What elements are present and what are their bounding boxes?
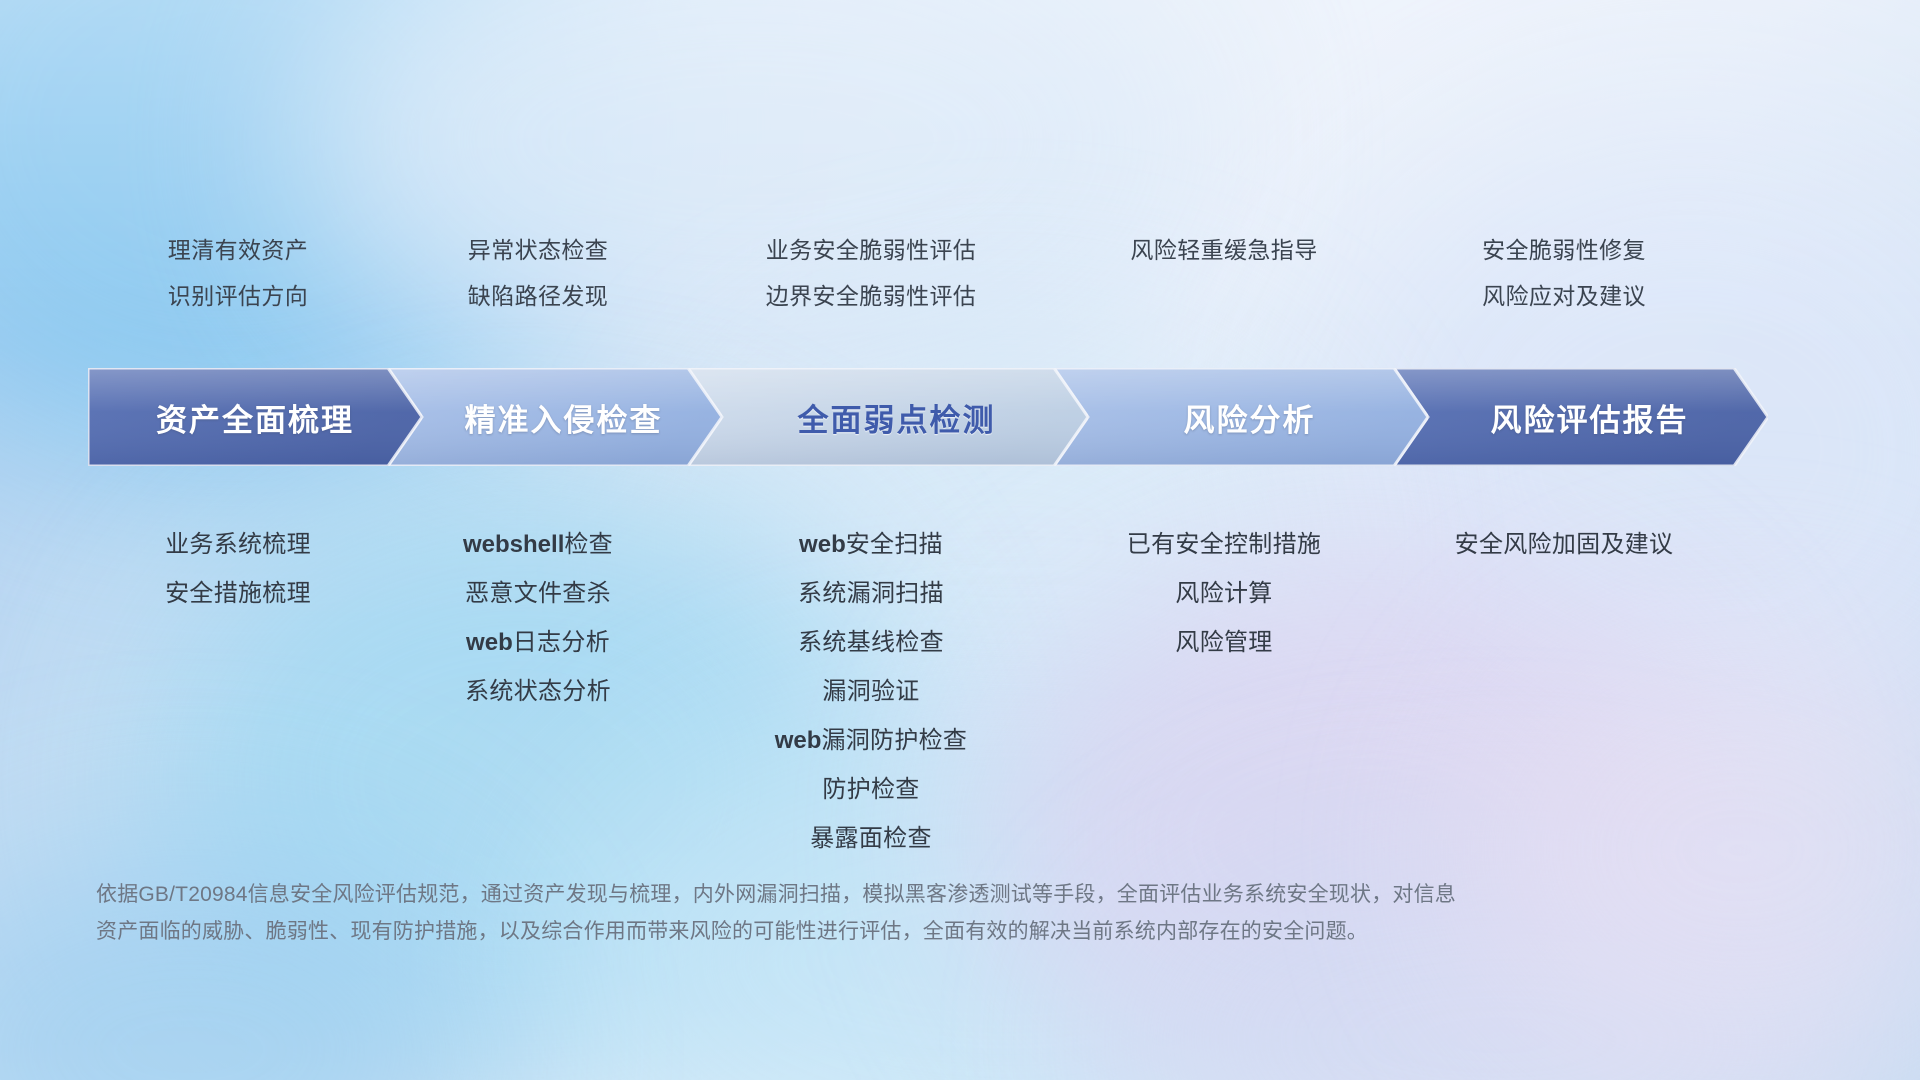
detail-item-prefix: webshell — [463, 531, 564, 558]
process-step-label: 精准入侵检查 — [465, 395, 663, 440]
detail-item: 系统基线检查 — [798, 618, 944, 667]
detail-item: 业务系统梳理 — [165, 520, 311, 569]
footer-description: 依据GB/T20984信息安全风险评估规范，通过资产发现与梳理，内外网漏洞扫描，… — [96, 876, 1596, 950]
top-notes-column-3: 业务安全脆弱性评估边界安全脆弱性评估 — [688, 232, 1054, 342]
detail-item: 安全措施梳理 — [165, 569, 311, 618]
process-step-label: 风险分析 — [1184, 395, 1316, 440]
process-step-label: 全面弱点检测 — [798, 395, 996, 440]
detail-item: webshell检查 — [463, 520, 613, 569]
detail-column-1: 业务系统梳理安全措施梳理 — [88, 498, 388, 863]
footer-line-2: 资产面临的威胁、脆弱性、现有防护措施，以及综合作用而带来风险的可能性进行评估，全… — [96, 913, 1596, 950]
detail-item-prefix: web — [799, 531, 846, 558]
slide-canvas: 理清有效资产识别评估方向异常状态检查缺陷路径发现业务安全脆弱性评估边界安全脆弱性… — [0, 0, 1920, 1080]
detail-column-5: 安全风险加固及建议 — [1394, 498, 1734, 863]
bottom-detail-columns: 业务系统梳理安全措施梳理webshell检查恶意文件查杀web日志分析系统状态分… — [88, 498, 1872, 863]
detail-column-2: webshell检查恶意文件查杀web日志分析系统状态分析 — [388, 498, 688, 863]
detail-item: 风险计算 — [1175, 569, 1272, 618]
process-chevron-band: 资产全面梳理精准入侵检查全面弱点检测风险分析风险评估报告 — [88, 368, 1872, 466]
detail-item: web日志分析 — [466, 618, 610, 667]
detail-item: 系统状态分析 — [465, 667, 611, 716]
top-notes-column-2: 异常状态检查缺陷路径发现 — [388, 232, 688, 342]
process-step-stage-weakness-detection[interactable]: 全面弱点检测 — [688, 368, 1088, 466]
detail-item: 风险管理 — [1175, 618, 1272, 667]
top-notes-row: 理清有效资产识别评估方向异常状态检查缺陷路径发现业务安全脆弱性评估边界安全脆弱性… — [88, 232, 1858, 342]
detail-item: web安全扫描 — [799, 520, 943, 569]
process-step-stage-risk-analysis[interactable]: 风险分析 — [1054, 368, 1428, 466]
top-note: 理清有效资产 — [168, 232, 308, 268]
top-note: 风险应对及建议 — [1482, 278, 1646, 314]
detail-column-4: 已有安全控制措施风险计算风险管理 — [1054, 498, 1394, 863]
detail-item: 系统漏洞扫描 — [798, 569, 944, 618]
top-note: 识别评估方向 — [168, 278, 308, 314]
detail-item: 恶意文件查杀 — [465, 569, 611, 618]
detail-item: web漏洞防护检查 — [775, 716, 968, 765]
top-note: 风险轻重缓急指导 — [1130, 232, 1317, 268]
process-step-label: 风险评估报告 — [1491, 395, 1689, 440]
top-note: 业务安全脆弱性评估 — [766, 232, 977, 268]
top-note: 缺陷路径发现 — [468, 278, 608, 314]
detail-item: 暴露面检查 — [810, 814, 932, 863]
detail-item: 已有安全控制措施 — [1127, 520, 1321, 569]
detail-item: 防护检查 — [822, 765, 919, 814]
detail-item: 漏洞验证 — [822, 667, 919, 716]
top-notes-column-4: 风险轻重缓急指导 — [1054, 232, 1394, 342]
detail-item-prefix: web — [466, 629, 513, 656]
process-step-stage-intrusion-check[interactable]: 精准入侵检查 — [388, 368, 722, 466]
detail-column-3: web安全扫描系统漏洞扫描系统基线检查漏洞验证web漏洞防护检查防护检查暴露面检… — [688, 498, 1054, 863]
top-note: 安全脆弱性修复 — [1482, 232, 1646, 268]
detail-item-prefix: web — [775, 727, 822, 754]
detail-item: 安全风险加固及建议 — [1455, 520, 1674, 569]
process-step-label: 资产全面梳理 — [156, 395, 354, 440]
top-notes-column-5: 安全脆弱性修复风险应对及建议 — [1394, 232, 1734, 342]
process-step-stage-risk-report[interactable]: 风险评估报告 — [1394, 368, 1768, 466]
top-note: 异常状态检查 — [468, 232, 608, 268]
process-step-stage-asset-inventory[interactable]: 资产全面梳理 — [88, 368, 422, 466]
footer-line-1: 依据GB/T20984信息安全风险评估规范，通过资产发现与梳理，内外网漏洞扫描，… — [96, 876, 1596, 913]
top-notes-column-1: 理清有效资产识别评估方向 — [88, 232, 388, 342]
top-note: 边界安全脆弱性评估 — [766, 278, 977, 314]
